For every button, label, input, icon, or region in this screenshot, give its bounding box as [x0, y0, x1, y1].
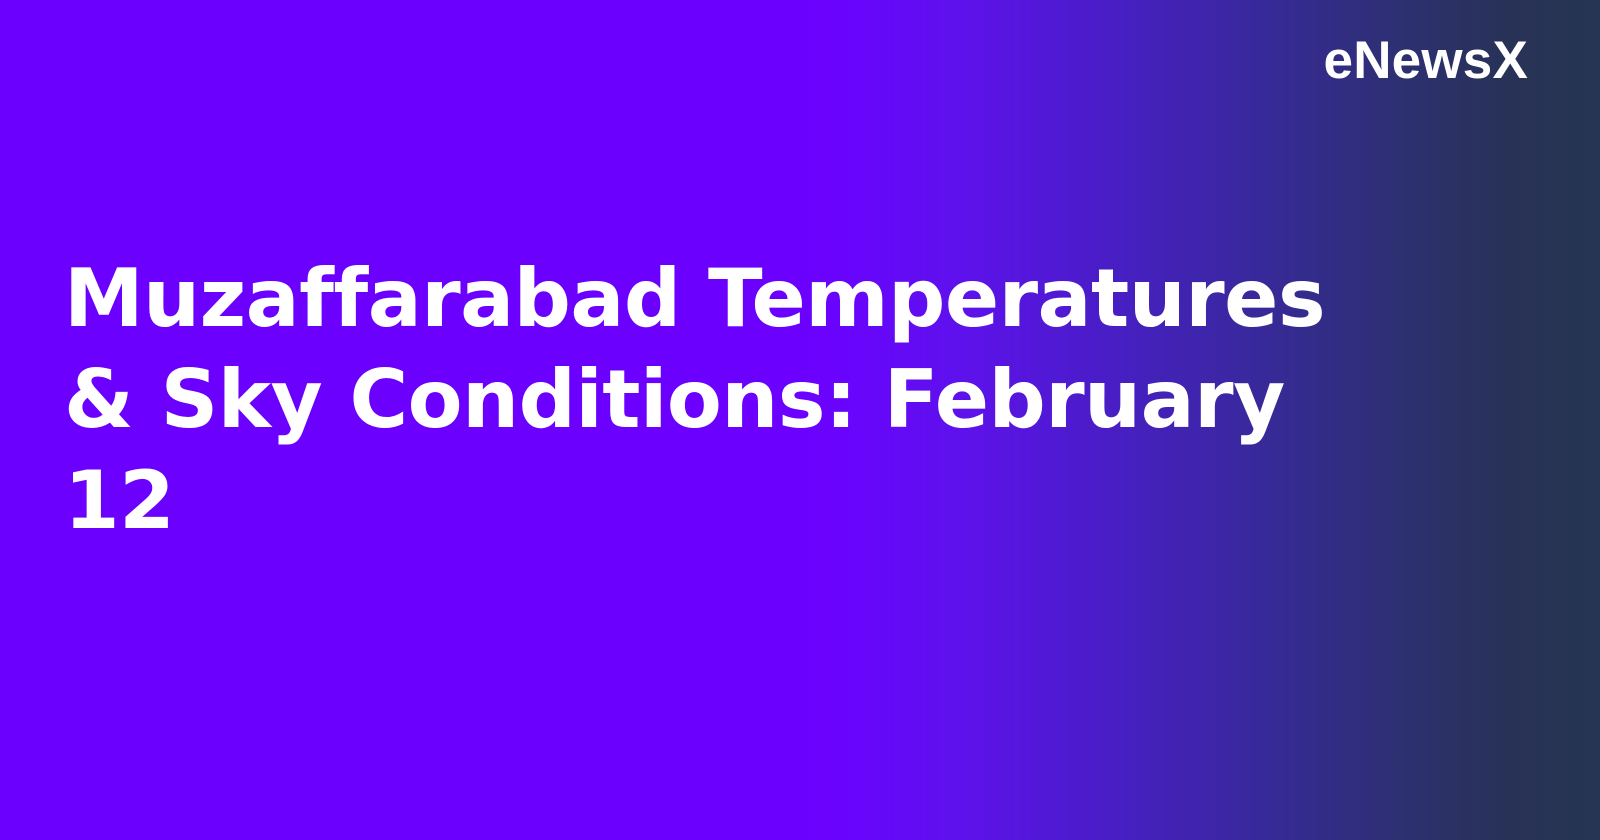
news-banner: eNewsX Muzaffarabad Temperatures & Sky C…	[0, 0, 1600, 840]
headline-container: Muzaffarabad Temperatures & Sky Conditio…	[64, 248, 1416, 551]
enewsx-logo[interactable]: eNewsX	[1324, 34, 1528, 87]
article-headline: Muzaffarabad Temperatures & Sky Conditio…	[64, 248, 1416, 551]
brand-header: eNewsX	[0, 0, 1600, 120]
